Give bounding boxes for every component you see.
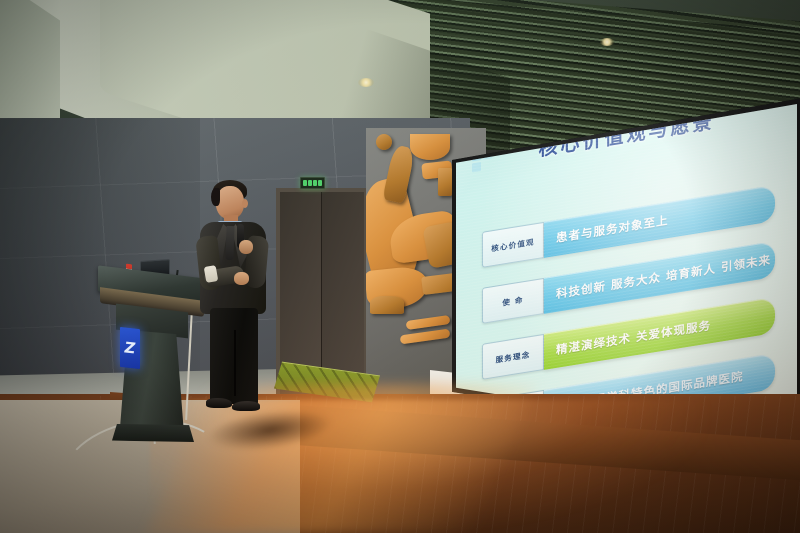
exit-sign xyxy=(300,177,325,189)
presenter xyxy=(192,180,278,420)
room-photo-scene: 体检之院 核心价值观与愿景 核心价值观 患者与服务对象至上 使 命 xyxy=(0,0,800,533)
row-label: 核心价值观 xyxy=(482,222,544,268)
presenter-hair-side xyxy=(211,188,220,206)
presenter-ear xyxy=(242,199,248,208)
presenter-shoe xyxy=(232,401,260,411)
lectern-logo-panel: Z xyxy=(120,327,140,369)
presenter-leg-seam xyxy=(234,330,236,396)
presenter-left-hand xyxy=(234,272,249,285)
presenter-tie xyxy=(225,226,234,260)
lectern-logo-mark: Z xyxy=(125,338,136,357)
presenter-shirt-cuff xyxy=(204,265,219,283)
lectern[interactable]: Z xyxy=(98,272,206,444)
presenter-shoe xyxy=(206,398,232,408)
ceiling-spotlight xyxy=(600,38,614,46)
lectern-base xyxy=(112,424,194,442)
row-label: 服务理念 xyxy=(482,334,544,380)
presenter-right-hand xyxy=(239,240,253,254)
ceiling-spotlight xyxy=(358,78,374,87)
row-label: 使 命 xyxy=(482,278,544,324)
